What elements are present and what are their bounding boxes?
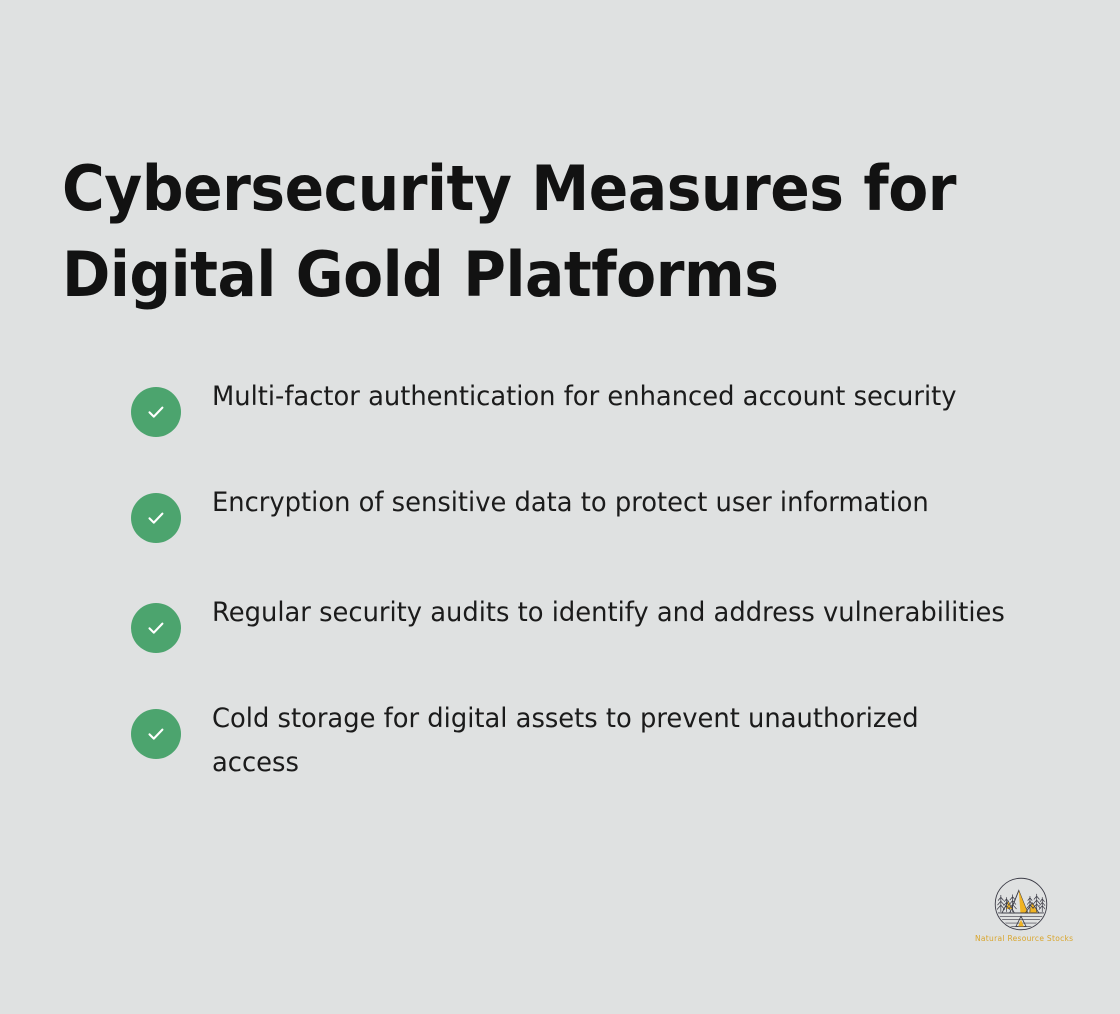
list-item: Encryption of sensitive data to protect …: [131, 474, 1051, 543]
list-item-label: Regular security audits to identify and …: [212, 584, 1013, 635]
check-circle-icon: [131, 387, 181, 437]
check-circle-icon: [131, 603, 181, 653]
check-circle-icon: [131, 709, 181, 759]
page-title: Cybersecurity Measures for Digital Gold …: [62, 146, 964, 318]
list-item-label: Encryption of sensitive data to protect …: [212, 474, 1013, 525]
check-circle-icon: [131, 493, 181, 543]
list-item: Cold storage for digital assets to preve…: [131, 690, 1051, 785]
bullet-list: Multi-factor authentication for enhanced…: [131, 368, 1051, 785]
mountain-forest-emblem-icon: [993, 876, 1049, 932]
brand-logo: Natural Resource Stocks: [975, 876, 1067, 943]
slide-canvas: Cybersecurity Measures for Digital Gold …: [0, 0, 1120, 1014]
list-item-label: Multi-factor authentication for enhanced…: [212, 368, 1013, 419]
list-item: Multi-factor authentication for enhanced…: [131, 368, 1051, 437]
list-item-label: Cold storage for digital assets to preve…: [212, 690, 1013, 785]
brand-logo-caption: Natural Resource Stocks: [975, 934, 1067, 943]
list-item: Regular security audits to identify and …: [131, 584, 1051, 653]
